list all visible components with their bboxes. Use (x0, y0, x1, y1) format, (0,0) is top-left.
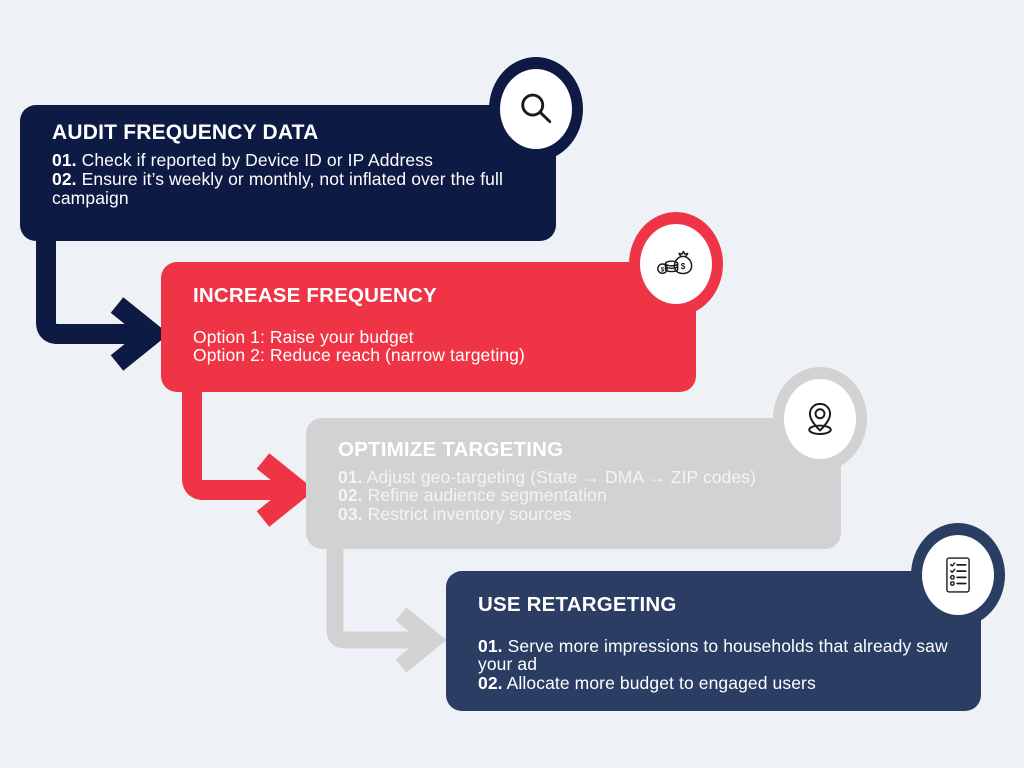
svg-text:$: $ (681, 262, 686, 271)
step-line-list: 01. Serve more impressions to households… (478, 637, 959, 694)
step-card-use-retargeting: USE RETARGETING 01. Serve more impressio… (446, 571, 981, 711)
money-bag-icon: $ $ (655, 243, 697, 285)
step-icon-badge-2: $ $ (629, 212, 723, 316)
arrow-step2-to-step3 (192, 372, 299, 519)
step-card-optimize-targeting: OPTIMIZE TARGETING 01. Adjust geo-target… (306, 418, 841, 549)
step-line-text: Adjust geo-targeting (State → DMA → ZIP … (363, 467, 756, 487)
step-card-audit-frequency-data: AUDIT FREQUENCY DATA 01. Check if report… (20, 105, 556, 241)
step-line-number: 02. (478, 673, 503, 693)
step-line-number: 03. (338, 504, 363, 524)
step-line: 02. Refine audience segmentation (338, 486, 819, 505)
magnifier-icon (515, 88, 557, 130)
step-icon-badge-4 (911, 523, 1005, 627)
step-line-list: Option 1: Raise your budget Option 2: Re… (193, 328, 674, 366)
step-line: 03. Restrict inventory sources (338, 505, 819, 524)
checklist-icon (937, 554, 979, 596)
location-pin-icon (799, 398, 841, 440)
step-line-text: Restrict inventory sources (363, 504, 572, 524)
step-card-increase-frequency: INCREASE FREQUENCY Option 1: Raise your … (161, 262, 696, 392)
step-title: INCREASE FREQUENCY (193, 284, 674, 308)
step-line-number: 01. (52, 150, 77, 170)
step-line: Option 1: Raise your budget (193, 328, 674, 347)
step-title: AUDIT FREQUENCY DATA (52, 121, 534, 145)
step-icon-badge-1 (489, 57, 583, 161)
step-line-text: Option 2: Reduce reach (narrow targeting… (193, 345, 525, 365)
step-line-number: 01. (338, 467, 363, 487)
step-line-number: 02. (52, 169, 77, 189)
svg-text:$: $ (661, 266, 665, 273)
step-line-text: Serve more impressions to households tha… (478, 636, 953, 675)
step-line-number: 02. (338, 485, 363, 505)
step-line-text: Check if reported by Device ID or IP Add… (77, 150, 433, 170)
step-line-text: Allocate more budget to engaged users (503, 673, 816, 693)
infographic-canvas: $ $ (0, 0, 1024, 768)
step-line-list: 01. Check if reported by Device ID or IP… (52, 151, 534, 208)
step-line-text: Ensure it’s weekly or monthly, not infla… (52, 169, 508, 208)
step-line-text: Refine audience segmentation (363, 485, 607, 505)
step-line: 02. Ensure it’s weekly or monthly, not i… (52, 170, 534, 208)
step-title: USE RETARGETING (478, 593, 959, 617)
step-line: 02. Allocate more budget to engaged user… (478, 674, 959, 693)
step-line: 01. Adjust geo-targeting (State → DMA → … (338, 468, 819, 487)
step-title: OPTIMIZE TARGETING (338, 438, 819, 462)
step-icon-badge-3 (773, 367, 867, 471)
step-line-text: Option 1: Raise your budget (193, 327, 414, 347)
step-line: Option 2: Reduce reach (narrow targeting… (193, 346, 674, 365)
step-line-number: 01. (478, 636, 503, 656)
step-line-list: 01. Adjust geo-targeting (State → DMA → … (338, 468, 819, 525)
step-line: 01. Check if reported by Device ID or IP… (52, 151, 534, 170)
step-line: 01. Serve more impressions to households… (478, 637, 959, 675)
